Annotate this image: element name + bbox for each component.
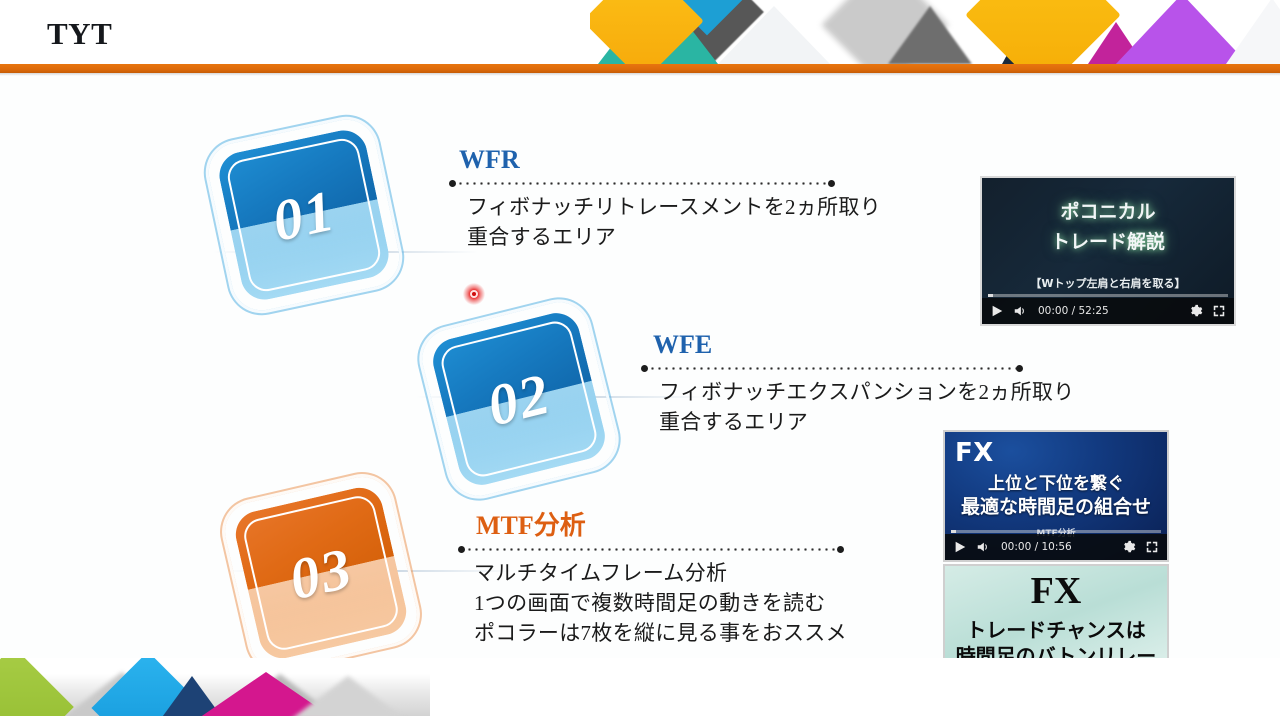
section-title-02: WFE [653,332,712,358]
mouse-cursor [463,283,485,305]
video-controls[interactable]: 00:00 / 10:56 [945,534,1167,560]
badge-number: 01 [215,126,393,304]
slide-body: 01 WFR フィボナッチリトレースメントを2ヵ所取り 重合するエリア 02 W… [0,76,1280,720]
header-decoration [590,0,1280,64]
play-icon[interactable] [953,540,967,554]
video-brand: FX [945,572,1167,610]
dotted-line-start-dot [458,546,465,553]
volume-icon[interactable] [976,540,990,554]
header-accent-rule [0,64,1280,73]
dotted-line-end-dot [828,180,835,187]
fullscreen-icon[interactable] [1145,540,1159,554]
play-icon[interactable] [990,304,1004,318]
dotted-line-end-dot [837,546,844,553]
page-title: TYT [47,18,112,49]
slide-header: TYT [0,0,1280,64]
dotted-line-start-dot [449,180,456,187]
video-time: 00:00 / 52:25 [1038,305,1109,317]
white-triangle-icon [718,6,830,64]
video-brand: FX [955,438,994,468]
gray-triangle-icon [290,676,406,720]
dotted-line-end-dot [1016,365,1023,372]
section-title-03: MTF分析 [476,513,586,539]
section-badge-01: 01 [215,126,393,304]
white-triangle-icon [1226,0,1280,64]
section-badge-03: 03 [231,483,411,663]
video-player-poconical[interactable]: ポコニカル トレード解説 【Wトップ左肩と右肩を取る】 00:00 / 52:2… [980,176,1236,326]
section-badge-02: 02 [428,308,610,490]
video-progress-bar[interactable] [988,294,1228,297]
video-time: 00:00 / 10:56 [1001,541,1072,553]
video-player-fx-mtf[interactable]: FX 上位と下位を繋ぐ 最適な時間足の組合せ MTF分析 00:00 / 10:… [943,430,1169,562]
video-title-line2: トレード解説 [982,230,1234,255]
section-body-03: マルチタイムフレーム分析 1つの画面で複数時間足の動きを読む ポコラーは7枚を縦… [474,559,994,648]
section-divider-02 [649,367,1017,370]
settings-icon[interactable] [1122,540,1136,554]
video-title-line1: ポコニカル [982,200,1234,225]
section-title-01: WFR [459,147,520,173]
section-body-02: フィボナッチエクスパンションを2ヵ所取り 重合するエリア [659,378,1189,438]
video-progress-bar[interactable] [951,530,1161,533]
section-body-01: フィボナッチリトレースメントを2ヵ所取り 重合するエリア [467,193,987,253]
fullscreen-icon[interactable] [1212,304,1226,318]
video-controls[interactable]: 00:00 / 52:25 [982,298,1234,324]
settings-icon[interactable] [1189,304,1203,318]
video-title-line1: 上位と下位を繋ぐ [945,474,1167,495]
footer-decoration [0,658,1280,720]
volume-icon[interactable] [1013,304,1027,318]
gray-triangle-icon [888,6,972,64]
section-divider-03 [466,548,841,551]
video-subtitle: 【Wトップ左肩と右肩を取る】 [982,275,1234,291]
dotted-line-start-dot [641,365,648,372]
video-title-line1: トレードチャンスは [945,618,1167,642]
video-title-line2: 最適な時間足の組合せ [945,496,1167,519]
section-divider-01 [457,182,831,185]
